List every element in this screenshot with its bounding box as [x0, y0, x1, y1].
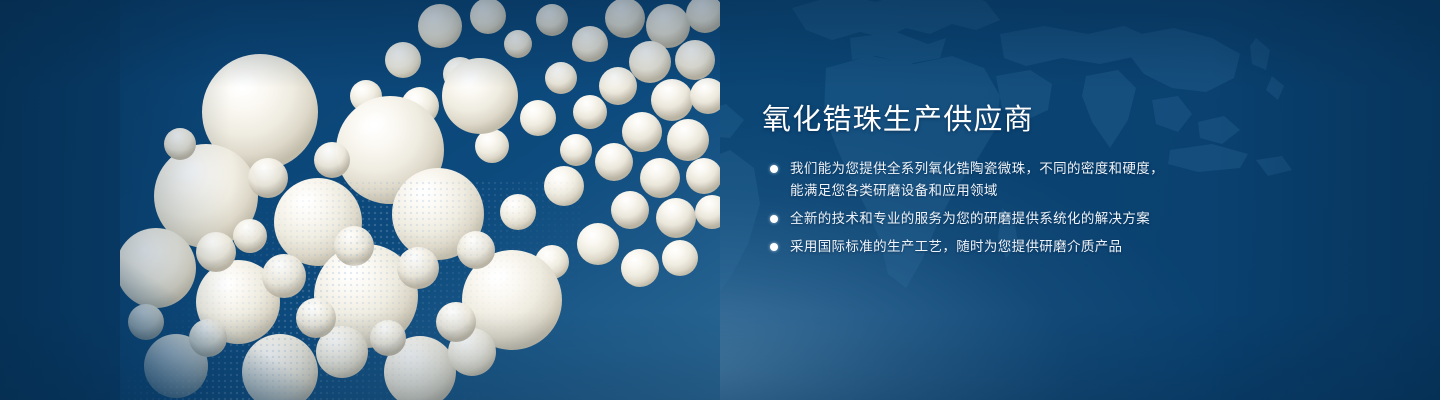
page-title: 氧化锆珠生产供应商	[762, 104, 1382, 136]
hero-banner: 氧化锆珠生产供应商 我们能为您提供全系列氧化锆陶瓷微珠，不同的密度和硬度， 能满…	[0, 0, 1440, 400]
dot-bullet-icon	[770, 215, 778, 223]
dot-bullet-icon	[770, 165, 778, 173]
list-item: 全新的技术和专业的服务为您的研磨提供系统化的解决方案	[762, 208, 1382, 230]
list-item-line-2: 能满足您各类研磨设备和应用领域	[790, 180, 1382, 202]
feature-list: 我们能为您提供全系列氧化锆陶瓷微珠，不同的密度和硬度， 能满足您各类研磨设备和应…	[762, 158, 1382, 258]
zirconia-beads-photo	[120, 0, 720, 400]
list-item: 我们能为您提供全系列氧化锆陶瓷微珠，不同的密度和硬度， 能满足您各类研磨设备和应…	[762, 158, 1382, 202]
banner-copy: 氧化锆珠生产供应商 我们能为您提供全系列氧化锆陶瓷微珠，不同的密度和硬度， 能满…	[762, 104, 1382, 258]
list-item-line-1: 我们能为您提供全系列氧化锆陶瓷微珠，不同的密度和硬度，	[790, 158, 1382, 180]
list-item: 采用国际标准的生产工艺，随时为您提供研磨介质产品	[762, 236, 1382, 258]
list-item-line-1: 全新的技术和专业的服务为您的研磨提供系统化的解决方案	[790, 208, 1382, 230]
dot-bullet-icon	[770, 243, 778, 251]
list-item-line-1: 采用国际标准的生产工艺，随时为您提供研磨介质产品	[790, 236, 1382, 258]
